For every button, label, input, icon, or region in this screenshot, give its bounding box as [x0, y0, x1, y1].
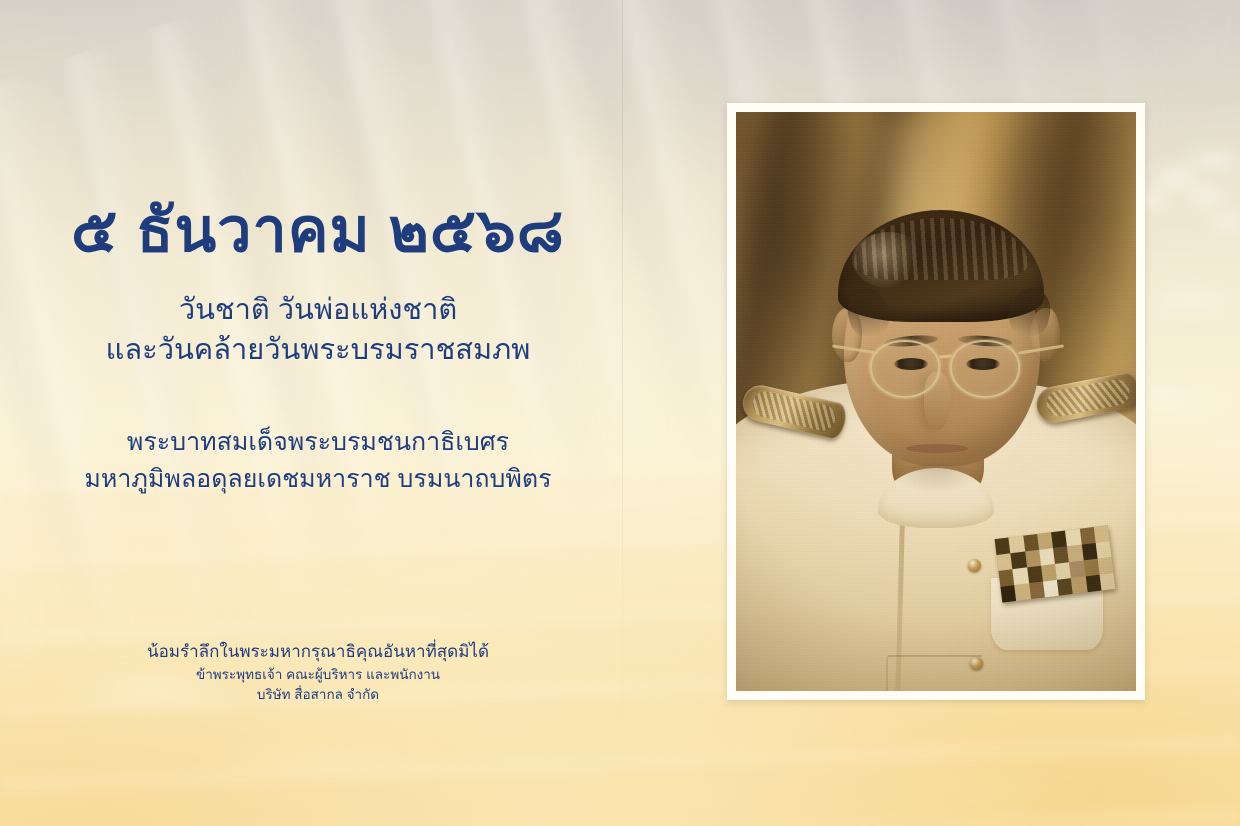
royal-name-line-2: มหาภูมิพลอดุลยเดชมหาราช บรมนาถบพิตร: [18, 461, 618, 498]
portrait-photo: [736, 112, 1136, 691]
dedication-block: น้อมรำลึกในพระมหากรุณาธิคุณอันหาที่สุดมิ…: [18, 639, 618, 706]
subtitle-block: วันชาติ วันพ่อแห่งชาติ และวันคล้ายวันพระ…: [18, 290, 618, 370]
royal-name-line-1: พระบาทสมเด็จพระบรมชนกาธิเบศร: [18, 424, 618, 461]
dedication-sub-line-1: ข้าพระพุทธเจ้า คณะผู้บริหาร และพนักงาน: [18, 665, 618, 686]
subtitle-line-1: วันชาติ วันพ่อแห่งชาติ: [18, 290, 618, 330]
royal-name-block: พระบาทสมเด็จพระบรมชนกาธิเบศร มหาภูมิพลอด…: [18, 424, 618, 497]
subtitle-line-2: และวันคล้ายวันพระบรมราชสมภพ: [18, 330, 618, 370]
page-fold-seam: [622, 0, 623, 826]
photo-film-grain: [736, 112, 1136, 691]
portrait-photo-frame: [727, 103, 1145, 700]
dedication-sub-line-2: บริษัท สื่อสากล จำกัด: [18, 685, 618, 706]
headline-text-block: ๕ ธันวาคม ๒๕๖๘ วันชาติ วันพ่อแห่งชาติ แล…: [18, 196, 618, 497]
page-title: ๕ ธันวาคม ๒๕๖๘: [18, 196, 618, 264]
commemorative-poster: ๕ ธันวาคม ๒๕๖๘ วันชาติ วันพ่อแห่งชาติ แล…: [0, 0, 1240, 826]
dedication-main-line: น้อมรำลึกในพระมหากรุณาธิคุณอันหาที่สุดมิ…: [18, 639, 618, 665]
